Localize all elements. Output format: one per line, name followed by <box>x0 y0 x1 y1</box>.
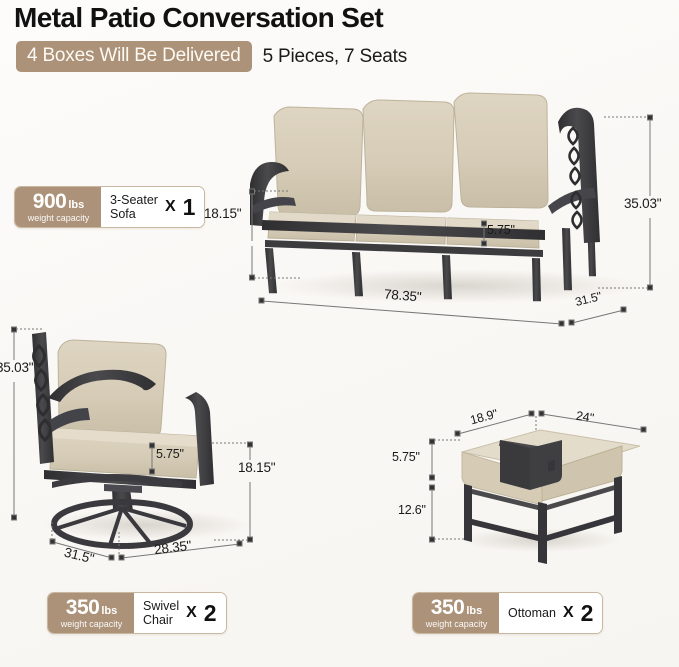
sofa-back-cushions <box>274 93 548 216</box>
item-name-line2-sofa: Sofa <box>110 207 158 221</box>
pieces-seats-text: 5 Pieces, 7 Seats <box>263 46 407 68</box>
capacity-number-chair: 350 <box>66 597 100 618</box>
subtitle-row: 4 Boxes Will Be Delivered 5 Pieces, 7 Se… <box>16 41 407 72</box>
swivel-chair-drawing <box>0 300 300 570</box>
multiply-sign-ottoman: X <box>563 604 574 622</box>
sofa-dim-seat-height: 18.15" <box>204 206 241 221</box>
ottoman-drawing <box>400 400 670 570</box>
capacity-badge-sofa: 900 lbs weight capacity 3-Seater Sofa X … <box>14 186 205 228</box>
capacity-number-sofa: 900 <box>33 191 67 212</box>
capacity-right-chair: Swivel Chair X 2 <box>134 593 226 633</box>
item-name-line1-ottoman: Ottoman <box>508 606 556 620</box>
sofa-drawing <box>232 88 679 328</box>
multiply-sign-chair: X <box>186 604 197 622</box>
item-name-ottoman: Ottoman <box>508 606 556 620</box>
chair-dim-cushion: 5.75" <box>156 447 184 461</box>
page-title: Metal Patio Conversation Set <box>14 2 383 34</box>
capacity-left-sofa: 900 lbs weight capacity <box>15 187 101 227</box>
sofa-dim-cushion: 5.75" <box>487 223 515 237</box>
chair-dim-overall-height: 35.03" <box>0 360 33 375</box>
item-name-sofa: 3-Seater Sofa <box>110 193 158 221</box>
ottoman-dim-width: 24" <box>575 409 595 426</box>
ottoman-dim-leg-height: 12.6" <box>398 503 426 517</box>
ottoman-illustration: 18.9" 24" 5.75" 12.6" <box>400 400 670 570</box>
sofa-dim-width: 78.35" <box>383 287 421 305</box>
boxes-delivered-badge: 4 Boxes Will Be Delivered <box>16 41 252 72</box>
item-name-line1-sofa: 3-Seater <box>110 193 158 207</box>
capacity-caption-sofa: weight capacity <box>28 214 90 223</box>
capacity-left-ottoman: 350 lbs weight capacity <box>413 593 499 633</box>
capacity-left-chair: 350 lbs weight capacity <box>48 593 134 633</box>
sofa-dim-overall-height: 35.03" <box>624 196 661 211</box>
ottoman-dim-cushion: 5.75" <box>392 450 420 464</box>
capacity-caption-ottoman: weight capacity <box>426 620 488 629</box>
capacity-number-ottoman: 350 <box>431 597 465 618</box>
swivel-chair-illustration: 35.03" 5.75" 18.15" 31.5" 28.35" <box>0 300 300 570</box>
capacity-badge-chair: 350 lbs weight capacity Swivel Chair X 2 <box>47 592 227 634</box>
item-name-chair: Swivel Chair <box>143 599 179 627</box>
capacity-caption-chair: weight capacity <box>61 620 123 629</box>
item-name-line1-chair: Swivel <box>143 599 179 613</box>
multiply-sign-sofa: X <box>165 198 176 216</box>
capacity-unit-chair: lbs <box>101 606 117 617</box>
capacity-right-sofa: 3-Seater Sofa X 1 <box>101 187 204 227</box>
quantity-sofa: 1 <box>183 196 196 219</box>
sofa-right-arm <box>548 108 600 243</box>
sofa-illustration: 18.15" 5.75" 35.03" 78.35" 31.5" <box>232 88 679 328</box>
capacity-unit-ottoman: lbs <box>466 606 482 617</box>
item-name-line2-chair: Chair <box>143 613 179 627</box>
capacity-right-ottoman: Ottoman X 2 <box>499 593 602 633</box>
capacity-badge-ottoman: 350 lbs weight capacity Ottoman X 2 <box>412 592 603 634</box>
chair-dim-seat-height: 18.15" <box>238 460 275 475</box>
capacity-unit-sofa: lbs <box>68 200 84 211</box>
quantity-chair: 2 <box>204 602 217 625</box>
quantity-ottoman: 2 <box>581 602 594 625</box>
